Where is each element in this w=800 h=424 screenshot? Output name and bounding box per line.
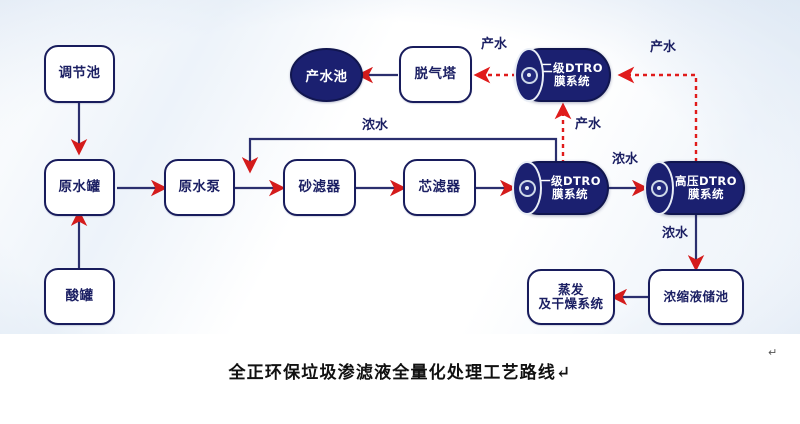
title-pilcrow: ↵ <box>556 363 571 383</box>
node-label: 砂滤器 <box>299 180 341 196</box>
edge-label-concentrate-recycle: 浓水 <box>362 114 388 133</box>
membrane-ring-icon <box>651 180 668 197</box>
node-label-line1: 蒸发 <box>558 283 584 297</box>
node-label-line2: 膜系统 <box>539 188 601 201</box>
node-raw-water-tank[interactable]: 原水罐 <box>44 159 115 216</box>
node-label: 芯滤器 <box>419 180 461 196</box>
node-label: 调节池 <box>59 66 101 82</box>
node-regulating-tank[interactable]: 调节池 <box>44 45 115 103</box>
node-label: 脱气塔 <box>415 67 457 83</box>
edge-label-product-water-top-right: 产水 <box>650 36 676 55</box>
node-label-line2: 膜系统 <box>541 75 603 88</box>
corner-pilcrow: ↵ <box>768 346 777 359</box>
membrane-ring-icon <box>521 67 538 84</box>
node-evap-dry-system[interactable]: 蒸发 及干燥系统 <box>527 269 615 325</box>
edge-label-product-water-1to2: 产水 <box>575 113 601 132</box>
node-dtro-stage1[interactable]: 一级DTRO 膜系统 <box>513 161 609 215</box>
node-acid-tank[interactable]: 酸罐 <box>44 268 115 325</box>
node-label-line2: 及干燥系统 <box>538 297 603 311</box>
node-raw-water-pump[interactable]: 原水泵 <box>164 159 235 216</box>
node-label: 原水泵 <box>179 180 221 196</box>
membrane-ring-icon <box>519 180 536 197</box>
node-sand-filter[interactable]: 砂滤器 <box>283 159 356 216</box>
node-product-water-pool[interactable]: 产水池 <box>290 48 363 102</box>
node-label: 浓缩液储池 <box>663 290 728 304</box>
diagram-canvas: 调节池 原水罐 酸罐 原水泵 砂滤器 芯滤器 脱气塔 产水池 一级DTRO 膜系… <box>0 0 800 424</box>
membrane-end-icon <box>644 161 674 215</box>
page-title: 全正环保垃圾渗滤液全量化处理工艺路线↵ <box>0 358 800 383</box>
node-label: 酸罐 <box>66 289 94 305</box>
edge-label-concentrate-1to-hp: 浓水 <box>612 148 638 167</box>
node-degassing-tower[interactable]: 脱气塔 <box>399 46 472 103</box>
edge-label-concentrate-hp-down: 浓水 <box>662 222 688 241</box>
node-dtro-stage2[interactable]: 二级DTRO 膜系统 <box>515 48 611 102</box>
node-label: 产水池 <box>306 65 348 85</box>
node-dtro-highpressure[interactable]: 高压DTRO 膜系统 <box>645 161 745 215</box>
node-cartridge-filter[interactable]: 芯滤器 <box>403 159 476 216</box>
membrane-end-icon <box>512 161 542 215</box>
page-title-text: 全正环保垃圾渗滤液全量化处理工艺路线 <box>228 363 556 383</box>
membrane-end-icon <box>514 48 544 102</box>
node-label: 原水罐 <box>59 180 101 196</box>
node-concentrate-pool[interactable]: 浓缩液储池 <box>648 269 744 325</box>
edge-label-product-water-2to1: 产水 <box>481 33 507 52</box>
node-label-line2: 膜系统 <box>675 188 737 201</box>
